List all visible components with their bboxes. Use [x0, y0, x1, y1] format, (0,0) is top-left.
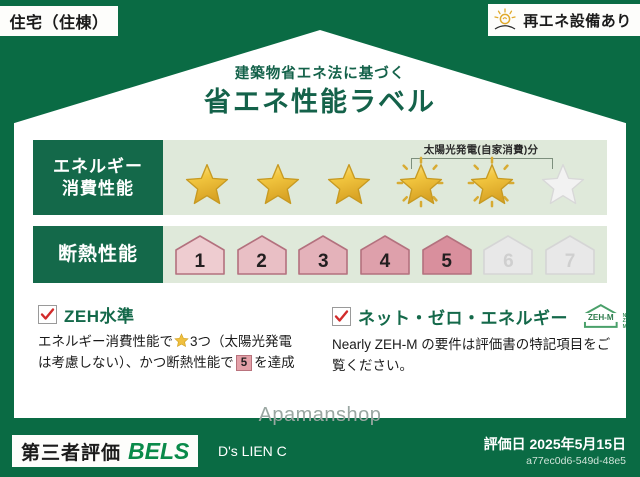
insulation-grade-number: 3 [296, 251, 350, 273]
renewable-energy-label: 再エネ設備あり [523, 10, 632, 31]
insulation-grade-chip: 5 [236, 355, 252, 371]
net-zero-energy-header: ネット・ゼロ・エネルギー ZEH-M Nearly ZEH-M [332, 302, 618, 330]
zeh-standard-description: エネルギー消費性能で3つ（太陽光発電 は考慮しない）、かつ断熱性能で5を達成 [38, 332, 326, 374]
star-filled [177, 155, 237, 211]
star-rating [163, 140, 607, 215]
insulation-grade-number: 4 [358, 251, 412, 273]
page-title: 省エネ性能ラベル [14, 80, 626, 119]
building-type-label: 住宅（住棟） [9, 9, 108, 33]
zeh-standard-star-count: 3つ（太陽光発電 [190, 334, 292, 349]
insulation-grade-active: 1 [173, 233, 227, 277]
watermark: Apamanshop [0, 404, 640, 427]
energy-label-line1: エネルギー [53, 156, 143, 177]
insulation-grade-number: 1 [173, 251, 227, 273]
renewable-energy-badge: 再エネ設備あり [488, 4, 640, 36]
insulation-grade-active: 3 [296, 233, 350, 277]
insulation-grade-active: 4 [358, 233, 412, 277]
insulation-grade-inactive: 6 [481, 233, 535, 277]
insulation-label: 断熱性能 [58, 243, 138, 267]
star-filled [391, 155, 451, 211]
sun-icon [492, 8, 518, 32]
zeh-standard-text-2: は考慮しない）、かつ断熱性能で [38, 355, 234, 370]
insulation-grade-active: 5 [420, 233, 474, 277]
zeh-standard-checkbox [38, 305, 57, 324]
insulation-grade-number: 7 [543, 251, 597, 273]
net-zero-energy-description: Nearly ZEH-M の要件は評価書の特記項目をご覧ください。 [332, 335, 618, 377]
zeh-m-logo-sub-2: ZEH-M [623, 318, 635, 330]
net-zero-energy-checkbox [332, 307, 351, 326]
star-filled [248, 155, 308, 211]
star-empty [533, 155, 593, 211]
insulation-performance-row: 断熱性能 1234567 [33, 226, 607, 283]
insulation-grade-panel: 1234567 [163, 226, 607, 283]
insulation-grade-inactive: 7 [543, 233, 597, 277]
bels-logo-jp: 第三者評価 [21, 438, 121, 465]
insulation-grade-number: 2 [235, 251, 289, 273]
label-card: 建築物省エネ法に基づく 省エネ性能ラベル エネルギー 消費性能 太陽光発電(自家… [14, 30, 626, 418]
building-type-badge: 住宅（住棟） [0, 6, 118, 36]
net-zero-energy-block: ネット・ゼロ・エネルギー ZEH-M Nearly ZEH-M Nearl [332, 302, 618, 377]
insulation-performance-label-box: 断熱性能 [33, 226, 163, 283]
zeh-standard-text-1: エネルギー消費性能で [38, 334, 173, 349]
insulation-grade-active: 2 [235, 233, 289, 277]
energy-label-line2: 消費性能 [62, 178, 134, 199]
insulation-grade-number: 5 [420, 251, 474, 273]
zeh-standard-block: ZEH水準 エネルギー消費性能で3つ（太陽光発電 は考慮しない）、かつ断熱性能で… [38, 302, 326, 374]
footer: 第三者評価 BELS D's LIEN C 評価日 2025年5月15日 a77… [0, 425, 640, 477]
evaluation-id: a77ec0d6-549d-48e5 [526, 455, 626, 467]
building-name: D's LIEN C [218, 443, 287, 459]
energy-performance-label-box: エネルギー 消費性能 [33, 140, 163, 215]
zeh-standard-text-3: を達成 [254, 355, 295, 370]
insulation-grade-scale: 1234567 [163, 226, 607, 283]
zeh-m-logo: ZEH-M Nearly ZEH-M [581, 302, 638, 330]
net-zero-energy-title: ネット・ゼロ・エネルギー [358, 304, 568, 329]
energy-performance-label: 住宅（住棟） 再エネ設備あり 建築物省エネ法に基づく 省エネ性能ラベル [0, 0, 640, 477]
bels-logo-en: BELS [128, 438, 189, 465]
star-filled [319, 155, 379, 211]
energy-performance-row: エネルギー 消費性能 太陽光発電(自家消費)分 [33, 140, 607, 215]
inline-star-icon [174, 333, 189, 348]
svg-text:ZEH-M: ZEH-M [588, 313, 614, 322]
energy-star-panel: 太陽光発電(自家消費)分 [163, 140, 607, 215]
zeh-standard-header: ZEH水準 [38, 302, 326, 327]
evaluation-date: 評価日 2025年5月15日 [484, 434, 626, 454]
insulation-grade-number: 6 [481, 251, 535, 273]
zeh-m-logo-sub: Nearly ZEH-M [623, 314, 639, 331]
zeh-standard-title: ZEH水準 [64, 302, 135, 327]
bels-logo: 第三者評価 BELS [12, 435, 198, 467]
star-filled [462, 155, 522, 211]
